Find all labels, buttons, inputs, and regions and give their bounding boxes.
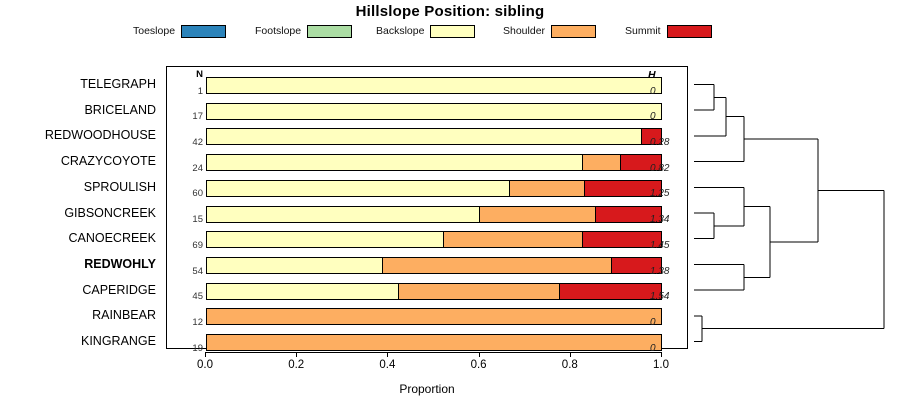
x-axis-tick <box>205 352 206 357</box>
bar-segment-backslope <box>207 155 582 170</box>
bar-segment-shoulder <box>479 207 595 222</box>
row-shannon-h: 0 <box>650 317 686 328</box>
legend-swatch-shoulder <box>551 25 596 38</box>
row-n-count: 60 <box>173 188 203 199</box>
chart-row: 420.28 <box>167 124 689 150</box>
row-n-count: 15 <box>173 214 203 225</box>
legend-swatch-toeslope <box>181 25 226 38</box>
stacked-bar <box>206 128 662 145</box>
row-shannon-h: 1.34 <box>650 214 686 225</box>
row-shannon-h: 1.25 <box>650 188 686 199</box>
dendrogram <box>694 66 894 349</box>
legend-item-summit: Summit <box>625 22 712 40</box>
x-axis-tick <box>479 352 480 357</box>
stacked-bar <box>206 257 662 274</box>
legend-item-toeslope: Toeslope <box>133 22 226 40</box>
bar-segment-backslope <box>207 284 398 299</box>
bar-segment-backslope <box>207 104 661 119</box>
bar-segment-shoulder <box>207 309 661 324</box>
legend-item-backslope: Backslope <box>376 22 475 40</box>
legend-swatch-summit <box>667 25 712 38</box>
legend-swatch-footslope <box>307 25 352 38</box>
x-axis-tick-label: 0.6 <box>471 359 487 371</box>
x-axis-tick <box>661 352 662 357</box>
bar-segment-shoulder <box>207 335 661 350</box>
legend-label: Shoulder <box>503 25 545 37</box>
bar-segment-backslope <box>207 258 382 273</box>
bar-segment-summit <box>559 284 661 299</box>
row-n-count: 42 <box>173 137 203 148</box>
y-axis-label-sproulish: SPROULISH <box>0 175 160 201</box>
y-axis-label-briceland: BRICELAND <box>0 98 160 124</box>
row-n-count: 24 <box>173 163 203 174</box>
bar-segment-backslope <box>207 129 641 144</box>
legend-label: Backslope <box>376 25 424 37</box>
stacked-bar <box>206 206 662 223</box>
y-axis-label-rainbear: RAINBEAR <box>0 303 160 329</box>
chart-canvas: Hillslope Position: sibling ToeslopeFoot… <box>0 0 900 420</box>
stacked-bar <box>206 308 662 325</box>
bar-segment-shoulder <box>382 258 611 273</box>
chart-row: 170 <box>167 99 689 125</box>
row-n-count: 54 <box>173 266 203 277</box>
legend-label: Toeslope <box>133 25 175 37</box>
chart-row: 120 <box>167 304 689 330</box>
row-n-count: 17 <box>173 111 203 122</box>
stacked-bar <box>206 77 662 94</box>
chart-row: 151.34 <box>167 202 689 228</box>
row-shannon-h: 0 <box>650 86 686 97</box>
legend-swatch-backslope <box>430 25 475 38</box>
x-axis-tick-label: 0.4 <box>379 359 395 371</box>
y-axis-label-telegraph: TELEGRAPH <box>0 72 160 98</box>
y-axis-label-redwoodhouse: REDWOODHOUSE <box>0 123 160 149</box>
y-axis-label-kingrange: KINGRANGE <box>0 329 160 355</box>
legend-label: Footslope <box>255 25 301 37</box>
y-axis-label-redwohly: REDWOHLY <box>0 252 160 278</box>
bar-segment-shoulder <box>582 155 621 170</box>
y-axis-label-canoecreek: CANOECREEK <box>0 226 160 252</box>
bar-segment-shoulder <box>398 284 559 299</box>
stacked-bar <box>206 103 662 120</box>
legend-item-shoulder: Shoulder <box>503 22 596 40</box>
legend-item-footslope: Footslope <box>255 22 352 40</box>
chart-row: 601.25 <box>167 176 689 202</box>
y-axis-labels: TELEGRAPHBRICELANDREDWOODHOUSECRAZYCOYOT… <box>0 66 160 349</box>
legend-label: Summit <box>625 25 661 37</box>
bar-segment-backslope <box>207 232 443 247</box>
x-axis-tick-label: 0.0 <box>197 359 213 371</box>
legend: ToeslopeFootslopeBackslopeShoulderSummit <box>133 22 773 40</box>
y-axis-label-gibsoncreek: GIBSONCREEK <box>0 201 160 227</box>
x-axis-tick-label: 0.2 <box>288 359 304 371</box>
bar-segment-shoulder <box>509 181 584 196</box>
x-axis-tick <box>570 352 571 357</box>
chart-row: 451.54 <box>167 279 689 305</box>
row-shannon-h: 1.54 <box>650 291 686 302</box>
row-shannon-h: 0.82 <box>650 163 686 174</box>
row-shannon-h: 0 <box>650 111 686 122</box>
bar-segment-backslope <box>207 181 509 196</box>
bar-segment-backslope <box>207 207 479 222</box>
bar-segment-shoulder <box>443 232 581 247</box>
row-n-count: 1 <box>173 86 203 97</box>
x-axis-tick <box>296 352 297 357</box>
stacked-bar <box>206 231 662 248</box>
row-n-count: 45 <box>173 291 203 302</box>
stacked-bar <box>206 283 662 300</box>
row-shannon-h: 0.28 <box>650 137 686 148</box>
x-axis-line <box>205 352 661 353</box>
x-axis-title: Proportion <box>166 382 688 396</box>
chart-row: 10 <box>167 73 689 99</box>
stacked-bar <box>206 154 662 171</box>
x-axis-tick-label: 1.0 <box>653 359 669 371</box>
stacked-bar <box>206 180 662 197</box>
bar-segment-backslope <box>207 78 661 93</box>
y-axis-label-crazycoyote: CRAZYCOYOTE <box>0 149 160 175</box>
row-shannon-h: 1.38 <box>650 266 686 277</box>
plot-area: N H 10170420.28240.82601.25151.34691.455… <box>166 66 688 349</box>
x-axis-tick-label: 0.8 <box>562 359 578 371</box>
x-axis-tick <box>387 352 388 357</box>
row-n-count: 69 <box>173 240 203 251</box>
page-title: Hillslope Position: sibling <box>0 3 900 20</box>
row-n-count: 12 <box>173 317 203 328</box>
row-shannon-h: 1.45 <box>650 240 686 251</box>
chart-row: 240.82 <box>167 150 689 176</box>
y-axis-label-caperidge: CAPERIDGE <box>0 278 160 304</box>
chart-row: 541.38 <box>167 253 689 279</box>
chart-row: 691.45 <box>167 227 689 253</box>
stacked-bar <box>206 334 662 351</box>
